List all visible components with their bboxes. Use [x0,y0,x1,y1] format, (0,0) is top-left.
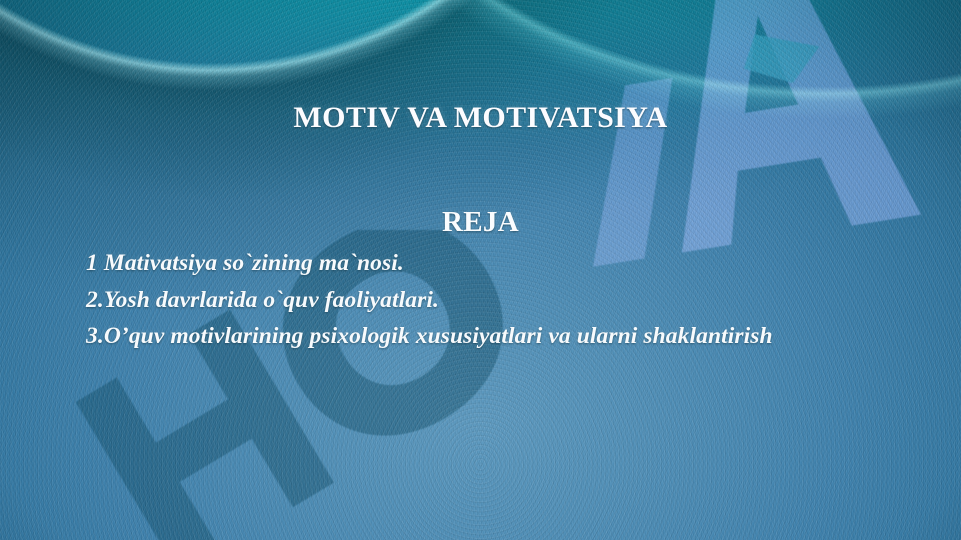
list-item: 1 Mativatsiya so`zining ma`nosi. [86,245,886,282]
agenda-list: 1 Mativatsiya so`zining ma`nosi. 2.Yosh … [86,245,886,355]
list-item: 2.Yosh davrlarida o`quv faoliyatlari. [86,282,886,319]
presentation-slide: MOTIV VA MOTIVATSIYA REJA 1 Mativatsiya … [0,0,961,540]
slide-content: MOTIV VA MOTIVATSIYA REJA 1 Mativatsiya … [0,0,961,540]
list-item: 3.O’quv motivlarining psixologik xususiy… [86,318,886,355]
reja-heading: REJA [0,206,961,239]
slide-title: MOTIV VA MOTIVATSIYA [0,101,961,135]
